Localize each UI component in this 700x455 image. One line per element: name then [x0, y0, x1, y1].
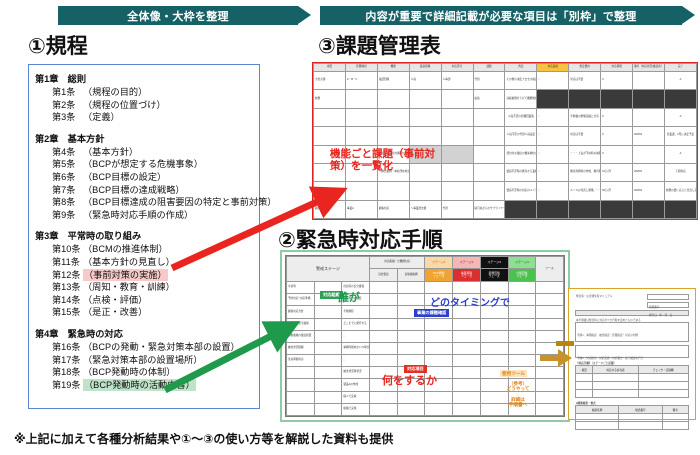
table-cell: 下期対応	[664, 163, 696, 181]
regulation-article[interactable]: 第8条（BCP目標達成の阻害要因の特定と事前対策）	[52, 196, 255, 209]
article-name: （緊急対策本部の設置場所）	[83, 354, 202, 367]
table-cell	[425, 342, 453, 354]
table-cell	[633, 72, 665, 90]
table-cell	[619, 414, 662, 422]
table-cell: 人事部	[441, 72, 473, 90]
article-number: 第12条	[52, 269, 83, 282]
table-cell	[425, 355, 453, 367]
table-cell: A	[664, 72, 696, 90]
table-row[interactable]: 総務拡張決裁権限を下げて機能維持	[314, 90, 697, 108]
article-name: （緊急時対応手順の作成）	[83, 209, 193, 222]
table-cell	[662, 414, 689, 422]
procedure-action-text: ：	[342, 330, 370, 342]
table-cell: 顧客対応	[377, 200, 409, 218]
table-row[interactable]: 全社共通A・B・C電話回線人員人事部代替その他の決定プロセス確認○対応は不要0A	[314, 72, 697, 90]
table-cell	[370, 391, 398, 403]
procedure-sub-label	[314, 355, 342, 367]
doc-body-1: 手順1：事態確認 被害確認・影響確認・対応の判断	[575, 322, 689, 342]
procedure-row-label	[287, 391, 315, 403]
table-cell	[473, 163, 505, 181]
table-cell	[409, 127, 441, 145]
issue-table-col-header: 対応品質	[537, 64, 569, 72]
issue-table-col-header: 想定費用	[569, 64, 601, 72]
procedure-row-label	[287, 379, 315, 391]
table-cell	[397, 403, 425, 415]
regulation-article[interactable]: 第4条（基本方針）	[52, 146, 255, 159]
table-cell	[345, 182, 377, 200]
table-cell	[345, 127, 377, 145]
issue-table-col-header: 判定	[505, 64, 537, 72]
regulation-article[interactable]: 第11条（基本方針の見直し）	[52, 256, 255, 269]
procedure-row-label: 平常時	[287, 282, 315, 294]
regulation-article[interactable]: 第19条（BCP発動時の活動内容）	[52, 379, 255, 392]
article-name: （基本方針の見直し）	[83, 256, 175, 269]
doc-table-col-header: 項目	[576, 366, 593, 374]
table-cell	[633, 145, 665, 163]
annotation-when: どのタイミングで	[430, 298, 510, 310]
procedure-row-label: 被害状況把握	[287, 342, 315, 354]
article-number: 第9条	[52, 209, 83, 222]
regulation-article[interactable]: 第15条（是正・改善）	[52, 306, 255, 319]
table-cell	[453, 379, 481, 391]
issue-table-annotation: 機能ごと課題（事前対策）を一覧化	[330, 148, 440, 172]
table-cell	[441, 127, 473, 145]
banner-arrow-tip-2	[682, 6, 695, 24]
table-cell: 決裁権限を下げて機能維持	[505, 90, 537, 108]
procedure-row-label: 予防対応','対応準備	[287, 294, 315, 306]
table-cell	[536, 306, 564, 318]
doc-table-col-header: 対応する担当者	[593, 366, 638, 374]
table-cell	[453, 342, 481, 354]
article-number: 第15条	[52, 306, 83, 319]
banner-arrow-tip	[298, 6, 311, 24]
procedure-action-text: 手順規程	[342, 306, 370, 318]
regulation-article[interactable]: 第6条（BCP目標の設定）	[52, 171, 255, 184]
table-cell: ○	[537, 163, 569, 181]
annotation-what: 何をするか	[382, 375, 437, 388]
table-cell	[425, 391, 453, 403]
doc-table-header-row: 項目対応する担当者チェック・記録欄	[576, 366, 689, 374]
article-name: （BCPが想定する危機事象）	[83, 158, 203, 171]
table-cell	[377, 182, 409, 200]
table-cell: A	[664, 108, 696, 126]
doc-meta-value: 発行日 年 月 日	[648, 314, 673, 317]
table-cell: 要員不足時の教育から業務移行の要否	[505, 163, 537, 181]
article-number: 第11条	[52, 256, 83, 269]
table-cell	[397, 318, 425, 330]
procedure-sub-label	[314, 330, 342, 342]
table-cell	[569, 90, 601, 108]
article-name: （BCPの発動・緊急対策本部の設置）	[83, 341, 240, 354]
stage-phase: 全面回復 フェーズ	[508, 269, 536, 282]
table-row[interactable]: 顧客向け事業A顧客対応～事業部支援代替取引先からのサプライヤー情報の取得	[314, 200, 697, 218]
table-cell	[536, 318, 564, 330]
regulation-article[interactable]: 第2条（規程の位置づけ）	[52, 99, 255, 112]
table-cell	[536, 282, 564, 294]
article-number: 第10条	[52, 243, 83, 256]
table-cell	[370, 403, 398, 415]
table-cell	[453, 282, 481, 294]
table-cell	[536, 330, 564, 342]
procedure-action-text: 被害状況再状況	[342, 367, 370, 379]
table-row[interactable]: 要員不足時の対応のメンテナンス体制の整備○ルールの見直し整備、・・・・の改定50…	[314, 182, 697, 200]
table-cell	[601, 200, 633, 218]
annotation-how: （参考） どうやって ↓ 詳細は 手順書へ	[498, 381, 538, 407]
table-cell: 人員不足の危機回避策	[505, 108, 537, 126]
table-cell	[397, 282, 425, 294]
table-cell	[576, 414, 619, 422]
table-cell	[370, 306, 398, 318]
table-cell	[441, 108, 473, 126]
stage-label: ステージ2	[453, 257, 481, 269]
table-cell	[453, 367, 481, 379]
table-cell	[480, 355, 508, 367]
table-cell	[569, 200, 601, 218]
table-cell	[508, 282, 536, 294]
article-name: （点検・評価）	[83, 294, 147, 307]
table-cell	[536, 379, 564, 391]
regulation-article[interactable]: 第3条（定義）	[52, 111, 255, 124]
procedure-sub-label	[314, 403, 342, 415]
table-cell	[453, 403, 481, 415]
regulation-article[interactable]: 第16条（BCPの発動・緊急対策本部の設置）	[52, 341, 255, 354]
table-cell	[314, 127, 346, 145]
procedure-header-row-1: 警戒ステージ対応組織／全機能対応ステージ1ステージ2ステージ3ステージ4ツール	[287, 257, 564, 269]
table-cell: ルールの見直し整備、・・・・の改定	[569, 182, 601, 200]
table-cell: 営業課、3月に決定予定	[664, 127, 696, 145]
table-cell	[345, 90, 377, 108]
table-cell	[397, 342, 425, 354]
procedure-sub-label	[314, 379, 342, 391]
table-cell	[314, 108, 346, 126]
procedure-row-label	[287, 403, 315, 415]
article-name: （周知・教育・訓練）	[83, 281, 175, 294]
table-row	[576, 422, 689, 430]
doc-body-note-2: 手順2：対応指示 対応実施・対応報告・完了確認を行う	[576, 357, 644, 360]
table-cell: A	[664, 145, 696, 163]
article-name: （基本方針）	[83, 146, 138, 159]
regulation-chapter-heading: 第3章 平常時の取り組み	[35, 228, 255, 242]
table-cell: 0	[601, 72, 633, 90]
table-cell	[536, 367, 564, 379]
issue-table-col-header: 対応期限	[601, 64, 633, 72]
table-cell: 部分的な復旧の優先順位の策定	[505, 145, 537, 163]
table-cell	[425, 318, 453, 330]
table-cell	[480, 318, 508, 330]
issue-table-col-header: 課題	[473, 64, 505, 72]
table-cell: 総務の要に応じた見直し実施	[664, 182, 696, 200]
article-number: 第14条	[52, 294, 83, 307]
stage-label: ステージ3	[480, 257, 508, 269]
table-cell	[453, 318, 481, 330]
regulation-box: 第1章 総則第1条（規程の目的）第2条（規程の位置づけ）第3条（定義）第2章 基…	[28, 64, 260, 409]
regulation-article[interactable]: 第13条（周知・教育・訓練）	[52, 281, 255, 294]
table-cell: 2025/3	[633, 182, 665, 200]
table-cell: ○	[537, 108, 569, 126]
table-cell	[537, 90, 569, 108]
table-cell	[508, 318, 536, 330]
stage-phase: BCP発動 フェーズ	[425, 269, 453, 282]
procedure-sub-label	[314, 342, 342, 354]
table-cell	[345, 108, 377, 126]
procedure-left-header: 警戒ステージ	[287, 257, 370, 282]
table-cell	[441, 145, 473, 163]
stage-label: ステージ4	[508, 257, 536, 269]
table-cell	[370, 355, 398, 367]
regulation-article[interactable]: 第14条（点検・評価）	[52, 294, 255, 307]
table-row	[576, 374, 689, 382]
doc-table-1: 項目対応する担当者チェック・記録欄	[575, 365, 689, 398]
article-name: （事前対策の実施）	[83, 269, 168, 282]
table-cell	[370, 282, 398, 294]
table-cell	[473, 182, 505, 200]
table-cell	[370, 330, 398, 342]
procedure-sub-label	[314, 367, 342, 379]
table-cell	[409, 182, 441, 200]
article-number: 第8条	[52, 196, 83, 209]
table-cell	[480, 282, 508, 294]
article-number: 第7条	[52, 184, 83, 197]
procedure-row-label: 生産再開対応	[287, 355, 315, 367]
regulation-article[interactable]: 第1条（規程の目的）	[52, 86, 255, 99]
table-cell	[370, 342, 398, 354]
table-cell: 対応は不要	[569, 127, 601, 145]
table-cell	[314, 182, 346, 200]
regulation-article[interactable]: 第12条（事前対策の実施）	[52, 269, 255, 282]
procedure-action-text: ：	[342, 355, 370, 367]
table-cell	[473, 127, 505, 145]
stage-phase: 事業再開 フェーズ	[453, 269, 481, 282]
table-row[interactable]: 人員不足の危機回避策○手順書の整備認識と共有0A	[314, 108, 697, 126]
procedure-org-col: 自社要員	[370, 269, 398, 282]
banner-overview: 全体像・大枠を整理	[58, 6, 298, 25]
issue-table-col-header: 項目	[314, 64, 346, 72]
article-number: 第3条	[52, 111, 83, 124]
regulation-article[interactable]: 第9条（緊急時対応手順の作成）	[52, 209, 255, 222]
tag-response-item: 対応項目	[404, 365, 427, 373]
table-row[interactable]: 自動連絡の復旧措置：	[287, 330, 564, 342]
issue-table-header-row: 項目影響種別機能役割部署対応区分課題判定対応品質想定費用対応期限備考（対応状況/…	[314, 64, 697, 72]
table-cell	[633, 200, 665, 218]
table-cell	[662, 422, 689, 430]
table-cell	[441, 90, 473, 108]
table-cell: 0	[601, 145, 633, 163]
regulation-chapter-heading: 第2章 基本方針	[35, 131, 255, 145]
table-cell	[593, 374, 638, 382]
table-cell	[397, 391, 425, 403]
procedure-document-thumbnail: 緊急時・災害発生時マニュアル 管理番号 発行日 年 月 日 本手順書は緊急時に対…	[568, 288, 696, 420]
annotation-tool: 使用ツール	[500, 370, 527, 377]
table-row	[576, 390, 689, 398]
article-name: （BCP目標の達成戦略）	[83, 184, 185, 197]
table-cell	[536, 342, 564, 354]
table-cell: A・B・C	[345, 72, 377, 90]
doc-table2-col-header: 備考	[662, 406, 689, 414]
table-cell	[377, 90, 409, 108]
table-cell	[638, 374, 689, 382]
table-cell	[397, 330, 425, 342]
stage-label: ステージ1	[425, 257, 453, 269]
article-name: （BCP目標の設定）	[83, 171, 166, 184]
table-cell	[453, 391, 481, 403]
table-cell	[536, 403, 564, 415]
article-name: （規程の位置づけ）	[83, 99, 166, 112]
stage-phase: 業務回復 フェーズ	[480, 269, 508, 282]
procedure-action-text: 個人で実施	[342, 391, 370, 403]
table-cell: 代替	[441, 200, 473, 218]
table-cell	[576, 390, 593, 398]
table-cell: ○	[537, 145, 569, 163]
table-cell: 総務	[314, 90, 346, 108]
table-cell	[508, 306, 536, 318]
table-cell: 代替	[473, 72, 505, 90]
table-cell	[664, 200, 696, 218]
table-cell	[633, 90, 665, 108]
table-cell	[480, 330, 508, 342]
table-cell	[441, 163, 473, 181]
table-cell	[593, 382, 638, 390]
tag-issue-check: 事業の課題確認	[414, 309, 449, 317]
article-name: （定義）	[83, 111, 120, 124]
table-cell	[508, 294, 536, 306]
table-cell: 事業A	[345, 200, 377, 218]
table-cell: ○	[537, 127, 569, 145]
article-number: 第13条	[52, 281, 83, 294]
table-cell: 人員	[409, 72, 441, 90]
footnote: ※上記に加えて各種分析結果や①～③の使い方等を解説した資料も提供	[14, 430, 393, 447]
article-number: 第2条	[52, 99, 83, 112]
procedure-action-text: 事務時間内かいつ場合の場で指示	[342, 342, 370, 354]
table-cell	[409, 108, 441, 126]
article-name: （BCMの推進体制）	[83, 243, 168, 256]
procedure-sub-label	[314, 391, 342, 403]
regulation-article[interactable]: 第7条（BCP目標の達成戦略）	[52, 184, 255, 197]
table-cell: 2025/3	[633, 127, 665, 145]
table-cell: 手順書の整備認識と共有	[569, 108, 601, 126]
table-cell	[508, 330, 536, 342]
table-cell: 取引先からのサプライヤー情報の取得	[473, 200, 505, 218]
doc-body-2: 手順2：対応指示 対応実施・対応報告・完了確認を行う	[575, 345, 689, 358]
procedure-sub-label	[314, 306, 342, 318]
issue-table-grid: 項目影響種別機能役割部署対応区分課題判定対応品質想定費用対応期限備考（対応状況/…	[313, 63, 697, 219]
table-cell: 拡張	[473, 90, 505, 108]
article-number: 第16条	[52, 341, 83, 354]
table-cell	[664, 90, 696, 108]
table-cell	[397, 294, 425, 306]
doc-body-note: 手順1：事態確認 被害確認・影響確認・対応の判断	[576, 334, 639, 337]
article-name: （BCP発動時の体制）	[83, 366, 175, 379]
table-cell	[377, 127, 409, 145]
doc-table-col-header: チェック・記録欄	[638, 366, 689, 374]
table-cell	[370, 318, 398, 330]
procedure-action-text: 製品Aの作成	[342, 379, 370, 391]
table-cell: 顧客向け	[314, 200, 346, 218]
table-row	[576, 414, 689, 422]
article-name: （規程の目的）	[83, 86, 147, 99]
table-cell	[537, 200, 569, 218]
table-cell	[409, 90, 441, 108]
doc-title: 緊急時・災害発生時マニュアル	[575, 294, 647, 298]
table-row[interactable]: 被害状況把握事務時間内かいつ場合の場で指示	[287, 342, 564, 354]
table-cell: 教育用資料の作成、教育期間の確保	[569, 163, 601, 181]
table-cell: ○	[537, 72, 569, 90]
table-cell	[441, 182, 473, 200]
table-row[interactable]: 人員不足の代替人員設定○対応は不要02025/3営業課、3月に決定予定	[314, 127, 697, 145]
article-number: 第19条	[52, 379, 83, 392]
table-cell	[508, 355, 536, 367]
procedure-row-label: 顧客対応方針	[287, 306, 315, 318]
article-name: （BCP発動時の活動内容）	[83, 379, 196, 392]
banner-overview-label: 全体像・大枠を整理	[127, 8, 229, 24]
regulation-article[interactable]: 第5条（BCPが想定する危機事象）	[52, 158, 255, 171]
issue-table-col-header: 影響種別	[345, 64, 377, 72]
regulation-article[interactable]: 第18条（BCP発動時の体制）	[52, 366, 255, 379]
table-cell: 対応は不要	[569, 72, 601, 90]
table-cell	[638, 382, 689, 390]
issue-table-col-header: 備考（対応状況/確認者）	[633, 64, 665, 72]
table-cell	[370, 294, 398, 306]
issue-table-body: 全社共通A・B・C電話回線人員人事部代替その他の決定プロセス確認○対応は不要0A…	[314, 72, 697, 219]
table-cell: ・・・上長が不在時の権限の明確化	[569, 145, 601, 163]
doc-table2-col-header: 様式番号	[619, 406, 662, 414]
article-number: 第1条	[52, 86, 83, 99]
table-cell	[453, 330, 481, 342]
table-cell	[480, 342, 508, 354]
article-name: （是正・改善）	[83, 306, 147, 319]
issue-table-col-header: 対応区分	[441, 64, 473, 72]
table-cell	[425, 330, 453, 342]
doc-table2-col-header: 帳票名称	[576, 406, 619, 414]
regulation-article[interactable]: 第17条（緊急対策本部の設置場所）	[52, 354, 255, 367]
table-cell: 0	[601, 127, 633, 145]
procedure-row-label: 社員等の安全確保	[287, 318, 315, 330]
table-cell: 2025/3	[633, 163, 665, 181]
table-cell	[536, 391, 564, 403]
table-cell	[505, 200, 537, 218]
procedure-row-label: 自動連絡の復旧措置	[287, 330, 315, 342]
issue-management-table: 項目影響種別機能役割部署対応区分課題判定対応品質想定費用対応期限備考（対応状況/…	[312, 62, 698, 220]
section-title-regulation: ①規程	[28, 30, 88, 60]
table-cell: 電話回線	[377, 72, 409, 90]
article-name: （BCP目標達成の阻害要因の特定と事前対策）	[83, 196, 276, 209]
table-cell: 50万/月	[601, 182, 633, 200]
table-cell: 全社共通	[314, 72, 346, 90]
article-number: 第18条	[52, 366, 83, 379]
table-cell: 要員不足時の対応のメンテナンス体制の整備	[505, 182, 537, 200]
regulation-chapter-heading: 第4章 緊急時の対応	[35, 326, 255, 340]
article-number: 第17条	[52, 354, 83, 367]
article-number: 第4条	[52, 146, 83, 159]
table-cell	[473, 145, 505, 163]
table-cell: その他の決定プロセス確認	[505, 72, 537, 90]
doc-table2-header-row: 帳票名称様式番号備考	[576, 406, 689, 414]
table-cell	[453, 355, 481, 367]
table-cell: ○	[537, 182, 569, 200]
table-cell	[536, 294, 564, 306]
issue-table-col-header: 役割部署	[409, 64, 441, 72]
procedure-tool-header: ツール	[536, 257, 564, 282]
table-cell: 0	[601, 108, 633, 126]
table-cell	[536, 355, 564, 367]
procedure-action-text: 組織で実施	[342, 403, 370, 415]
table-cell	[633, 108, 665, 126]
issue-table-col-header: 完了	[664, 64, 696, 72]
table-cell	[377, 108, 409, 126]
banner-detail-label: 内容が重要で詳細記載が必要な項目は「別枠」で整理	[365, 8, 636, 24]
table-cell: 人員不足の代替人員設定	[505, 127, 537, 145]
table-row[interactable]: 社員等の安全確保どこまでに発行する	[287, 318, 564, 330]
regulation-article[interactable]: 第10条（BCMの推進体制）	[52, 243, 255, 256]
